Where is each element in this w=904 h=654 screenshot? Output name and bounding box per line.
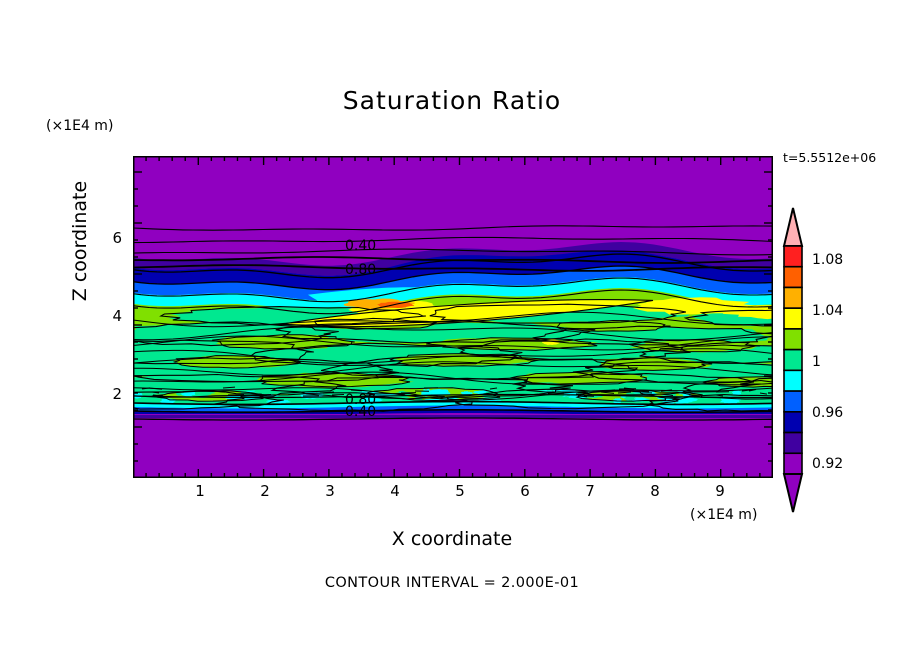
x-tick-label: 3 (320, 482, 340, 500)
x-tick-label: 4 (385, 482, 405, 500)
y-tick-label: 6 (100, 229, 122, 247)
contour-interval-caption: CONTOUR INTERVAL = 2.000E-01 (0, 575, 904, 591)
contour-line-label: 0.40 (345, 404, 376, 420)
x-tick-label: 8 (645, 482, 665, 500)
x-tick-label: 1 (190, 482, 210, 500)
x-tick-label: 5 (450, 482, 470, 500)
time-annotation: t=5.5512e+06 (783, 150, 876, 165)
x-axis-title: X coordinate (0, 528, 904, 550)
x-tick-label: 7 (580, 482, 600, 500)
colorbar[interactable] (776, 206, 810, 516)
y-axis-unit-label: (×1E4 m) (46, 118, 113, 134)
contour-line-label: 0.80 (345, 262, 376, 278)
y-tick-label: 4 (100, 307, 122, 325)
x-axis-unit-label: (×1E4 m) (690, 507, 757, 523)
colorbar-tick-label: 1 (812, 354, 821, 370)
x-tick-label: 9 (710, 482, 730, 500)
y-axis-title: Z coordinate (69, 151, 91, 331)
x-tick-label: 2 (255, 482, 275, 500)
x-tick-label: 6 (515, 482, 535, 500)
colorbar-tick-label: 1.08 (812, 252, 843, 268)
colorbar-tick-label: 0.92 (812, 456, 843, 472)
contour-plot-field (133, 156, 773, 478)
y-tick-label: 2 (100, 385, 122, 403)
page-title: Saturation Ratio (0, 86, 904, 115)
contour-line-label: 0.40 (345, 238, 376, 254)
colorbar-tick-label: 1.04 (812, 303, 843, 319)
colorbar-tick-label: 0.96 (812, 405, 843, 421)
